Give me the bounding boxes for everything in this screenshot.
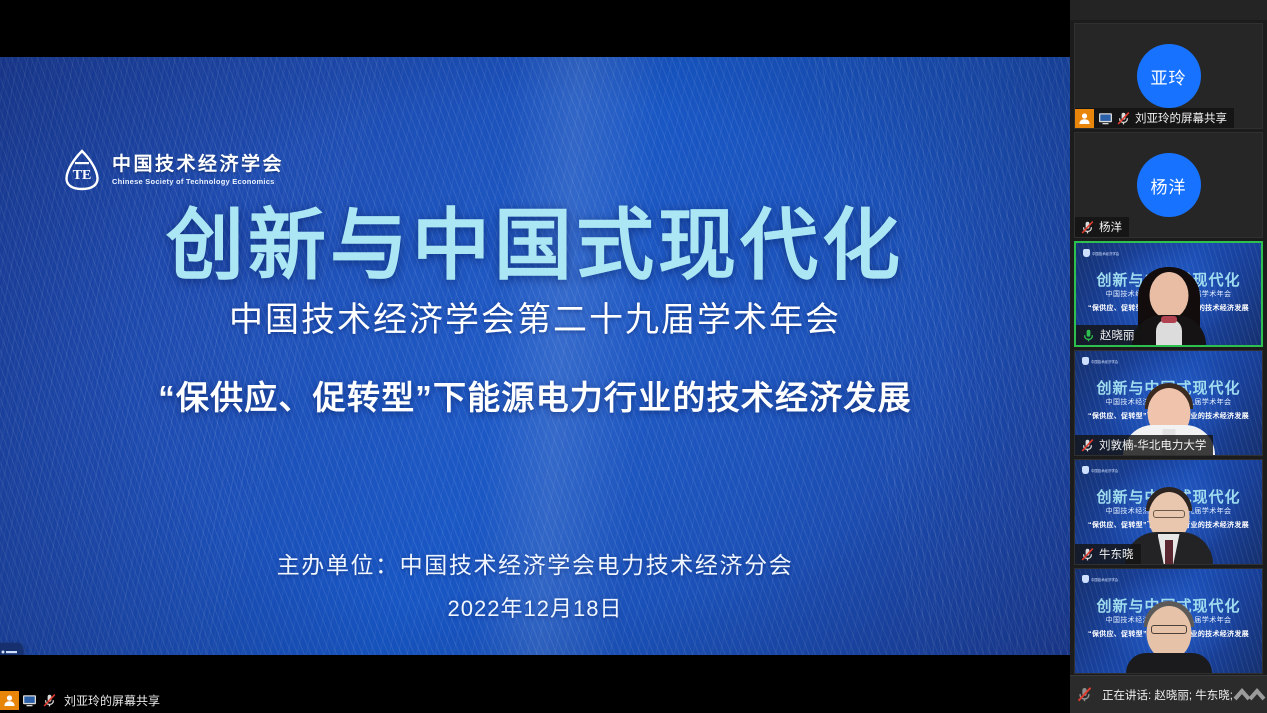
share-taskbar: 刘亚玲的屏幕共享 [0, 688, 1070, 713]
video-feed: 中国技术经济学会 创新与中国式现代化 中国技术经济学会第二十九届学术年会 “保供… [1075, 569, 1262, 673]
avatar-initials: 亚玲 [1151, 64, 1187, 89]
te-shield-icon [1082, 575, 1089, 583]
participant-icon [0, 691, 19, 710]
mic-muted-icon [1114, 109, 1132, 127]
avatar: 杨洋 [1137, 153, 1201, 217]
participant-tile[interactable]: 亚玲 [1074, 23, 1263, 129]
screen-share-icon [19, 691, 39, 710]
te-shield-icon: TE [63, 149, 101, 191]
participant-tile[interactable]: 中国技术经济学会 创新与中国式现代化 中国技术经济学会第二十九届学术年会 “保供… [1074, 568, 1263, 674]
slide-list-button[interactable] [0, 643, 23, 655]
te-shield-icon [1082, 466, 1089, 474]
zoom-meeting-window: TE 中国技术经济学会 Chinese Society of Technolog… [0, 0, 1267, 713]
slide-title-block: 创新与中国式现代化 中国技术经济学会第二十九届学术年会 “保供应、促转型”下能源… [0, 205, 1070, 419]
slide-title-sub: 中国技术经济学会第二十九届学术年会 [0, 292, 1070, 341]
filmstrip-top-bar [1070, 0, 1267, 20]
slide-title-theme: “保供应、促转型”下能源电力行业的技术经济发展 [0, 371, 1070, 419]
mini-logo: 中国技术经济学会 [1082, 466, 1118, 474]
presentation-slide[interactable]: TE 中国技术经济学会 Chinese Society of Technolog… [0, 57, 1070, 655]
participant-tile[interactable]: 中国技术经济学会 创新与中国式现代化 中国技术经济学会第二十九届学术年会 “保供… [1074, 350, 1263, 456]
avatar-initials: 杨洋 [1151, 173, 1187, 198]
speaking-status-text: 正在讲话: 赵晓丽; 牛东晓; [1102, 687, 1233, 703]
tile-label: 刘敦楠-华北电力大学 [1075, 435, 1213, 455]
te-shield-icon [1083, 249, 1090, 257]
participant-name: 杨洋 [1099, 219, 1122, 235]
society-logo-cn: 中国技术经济学会 [112, 155, 284, 174]
avatar: 亚玲 [1137, 44, 1201, 108]
svg-text:TE: TE [73, 168, 92, 183]
speaking-status-bar[interactable]: 正在讲话: 赵晓丽; 牛东晓; [1070, 675, 1267, 713]
society-logo-en: Chinese Society of Technology Economics [112, 178, 284, 186]
tile-label: 刘亚玲的屏幕共享 [1075, 108, 1234, 128]
share-status-label: 刘亚玲的屏幕共享 [64, 692, 160, 709]
mic-muted-icon[interactable] [1076, 686, 1093, 703]
participant-name: 刘敦楠-华北电力大学 [1099, 437, 1206, 453]
participant-name: 牛东晓 [1099, 546, 1134, 562]
participant-tile[interactable]: 杨洋 杨洋 [1074, 132, 1263, 238]
participant-tile[interactable]: 中国技术经济学会 创新与中国式现代化 中国技术经济学会第二十九届学术年会 “保供… [1074, 459, 1263, 565]
tile-label: 牛东晓 [1075, 544, 1141, 564]
tile-label: 杨洋 [1075, 217, 1129, 237]
mini-logo: 中国技术经济学会 [1083, 249, 1119, 257]
shared-screen-area[interactable]: TE 中国技术经济学会 Chinese Society of Technolog… [0, 0, 1070, 713]
list-icon [1, 649, 18, 655]
tile-label: 赵晓丽 [1076, 325, 1142, 345]
te-shield-icon [1082, 357, 1089, 365]
mini-logo-label: 中国技术经济学会 [1092, 251, 1119, 256]
participant-name: 刘亚玲的屏幕共享 [1135, 110, 1227, 126]
mini-logo-label: 中国技术经济学会 [1091, 359, 1118, 364]
mini-logo: 中国技术经济学会 [1082, 575, 1118, 583]
mini-logo: 中国技术经济学会 [1082, 357, 1118, 365]
mic-muted-icon [1078, 218, 1096, 236]
slide-date-line: 2022年12月18日 [0, 591, 1070, 623]
mic-active-icon [1079, 326, 1097, 344]
participant-filmstrip[interactable]: 亚玲 [1070, 0, 1267, 713]
slide-footer-block: 主办单位：中国技术经济学会电力技术经济分会 2022年12月18日 [0, 546, 1070, 623]
participant-name: 赵晓丽 [1100, 327, 1135, 343]
participant-icon [1075, 109, 1094, 128]
mic-muted-icon [39, 691, 59, 710]
chevrons-up-icon[interactable] [1233, 687, 1267, 703]
society-logo: TE 中国技术经济学会 Chinese Society of Technolog… [63, 149, 284, 191]
person-silhouette [1124, 601, 1214, 673]
slide-title-main: 创新与中国式现代化 [0, 205, 1070, 286]
mini-logo-label: 中国技术经济学会 [1091, 468, 1118, 473]
screen-share-icon [1096, 109, 1114, 127]
share-status-chip[interactable]: 刘亚玲的屏幕共享 [0, 691, 160, 710]
participant-tile[interactable]: 中国技术经济学会 创新与中国式现代化 中国技术经济学会第二十九届学术年会 “保供… [1074, 241, 1263, 347]
mini-logo-label: 中国技术经济学会 [1091, 577, 1118, 582]
slide-host-line: 主办单位：中国技术经济学会电力技术经济分会 [0, 546, 1070, 580]
mic-muted-icon [1078, 436, 1096, 454]
mic-muted-icon [1078, 545, 1096, 563]
